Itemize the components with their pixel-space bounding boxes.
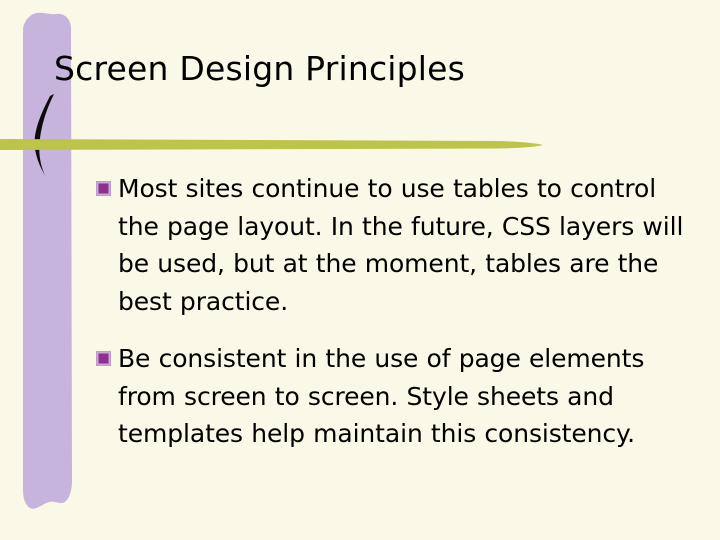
list-item-text: Most sites continue to use tables to con… xyxy=(118,170,684,320)
square-bullet-icon xyxy=(96,351,111,366)
bullet-list: Most sites continue to use tables to con… xyxy=(96,170,684,453)
page-title: Screen Design Principles xyxy=(54,50,694,89)
list-item: Be consistent in the use of page element… xyxy=(96,340,684,453)
list-item: Most sites continue to use tables to con… xyxy=(96,170,684,320)
slide-canvas: Screen Design Principles Most sites cont… xyxy=(0,0,720,540)
horizontal-rule xyxy=(0,134,560,154)
square-bullet-icon xyxy=(96,181,111,196)
list-item-text: Be consistent in the use of page element… xyxy=(118,340,684,453)
